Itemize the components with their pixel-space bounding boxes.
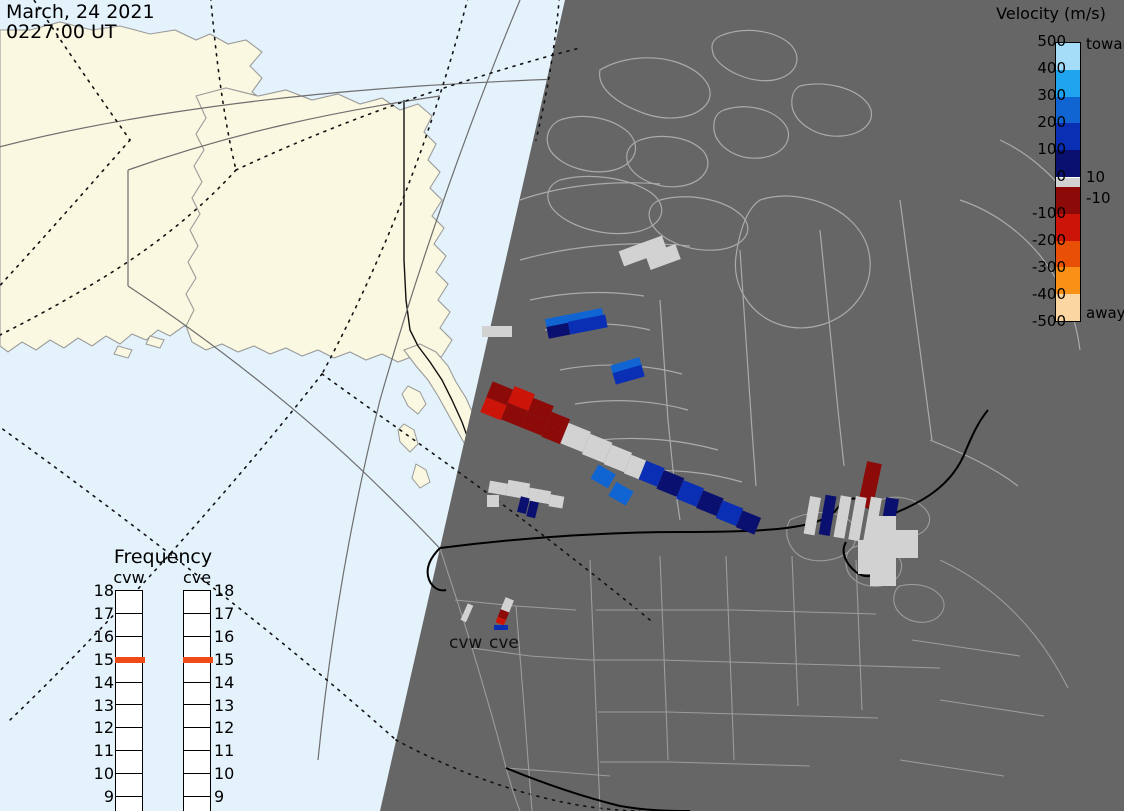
velocity-colorbar-title: Velocity (m/s)	[983, 4, 1119, 23]
frequency-tick-cvw-12: 12	[88, 718, 114, 737]
timestamp-label: March, 24 20210227:00 UT	[6, 2, 155, 42]
velocity-tick-300: 300	[1016, 86, 1066, 104]
radar-map-screenshot: March, 24 20210227:00 UT Velocity (m/s) …	[0, 0, 1124, 811]
velocity-tick--100: -100	[1016, 204, 1066, 222]
velocity-tick-400: 400	[1016, 59, 1066, 77]
frequency-cell	[184, 728, 210, 751]
frequency-legend-title: Frequency	[88, 546, 238, 568]
velocity-toward-label: toward	[1086, 35, 1124, 53]
velocity-inner-high-label: 10	[1086, 168, 1105, 186]
frequency-cell	[184, 591, 210, 614]
frequency-legend: Frequency cvw cve 1818171716161515141413…	[88, 546, 238, 786]
frequency-tick-cve-15: 15	[214, 650, 240, 669]
velocity-away-label: away	[1086, 304, 1124, 322]
timestamp-date: March, 24 2021	[6, 1, 155, 23]
frequency-tick-cvw-14: 14	[88, 673, 114, 692]
velocity-tick-500: 500	[1016, 32, 1066, 50]
frequency-marker-cve	[183, 657, 213, 663]
frequency-tick-cve-10: 10	[214, 764, 240, 783]
frequency-cell	[116, 683, 142, 706]
frequency-tick-cve-14: 14	[214, 673, 240, 692]
frequency-tick-cvw-16: 16	[88, 627, 114, 646]
frequency-cell	[116, 614, 142, 637]
velocity-tick--200: -200	[1016, 231, 1066, 249]
frequency-cell	[116, 591, 142, 614]
frequency-scale-cvw	[115, 590, 143, 811]
frequency-cell	[184, 614, 210, 637]
frequency-tick-cve-17: 17	[214, 604, 240, 623]
frequency-cell	[116, 728, 142, 751]
frequency-tick-cve-11: 11	[214, 741, 240, 760]
frequency-marker-cvw	[115, 657, 145, 663]
frequency-cell	[184, 706, 210, 729]
frequency-cell	[116, 774, 142, 797]
frequency-cell	[116, 706, 142, 729]
velocity-tick--400: -400	[1016, 285, 1066, 303]
velocity-colorbar: Velocity (m/s) 5004003002001000-100-200-…	[985, 4, 1124, 334]
frequency-tick-cvw-18: 18	[88, 581, 114, 600]
frequency-cell	[184, 774, 210, 797]
velocity-tick-200: 200	[1016, 113, 1066, 131]
station-label-cvw: cvw	[449, 633, 482, 653]
velocity-tick--500: -500	[1016, 312, 1066, 330]
velocity-tick-0: 0	[1016, 167, 1066, 185]
frequency-scale-cve	[183, 590, 211, 811]
frequency-tick-cvw-9: 9	[88, 787, 114, 806]
beam-alaska-edge-gray	[482, 326, 512, 337]
frequency-tick-cve-9: 9	[214, 787, 240, 806]
frequency-cell	[116, 797, 142, 811]
velocity-tick--300: -300	[1016, 258, 1066, 276]
frequency-tick-cve-18: 18	[214, 581, 240, 600]
frequency-cell	[184, 751, 210, 774]
frequency-tick-cvw-11: 11	[88, 741, 114, 760]
frequency-cell	[116, 751, 142, 774]
frequency-cell	[184, 660, 210, 683]
frequency-cell	[184, 683, 210, 706]
frequency-tick-cvw-13: 13	[88, 696, 114, 715]
frequency-tick-cvw-10: 10	[88, 764, 114, 783]
frequency-tick-cve-16: 16	[214, 627, 240, 646]
velocity-tick-100: 100	[1016, 140, 1066, 158]
frequency-cell	[116, 660, 142, 683]
timestamp-time: 0227:00 UT	[6, 21, 116, 43]
frequency-tick-cvw-15: 15	[88, 650, 114, 669]
velocity-inner-low-label: -10	[1086, 189, 1111, 207]
station-label-cve: cve	[489, 633, 519, 653]
frequency-tick-cvw-17: 17	[88, 604, 114, 623]
frequency-cell	[184, 797, 210, 811]
frequency-tick-cve-13: 13	[214, 696, 240, 715]
frequency-tick-cve-12: 12	[214, 718, 240, 737]
